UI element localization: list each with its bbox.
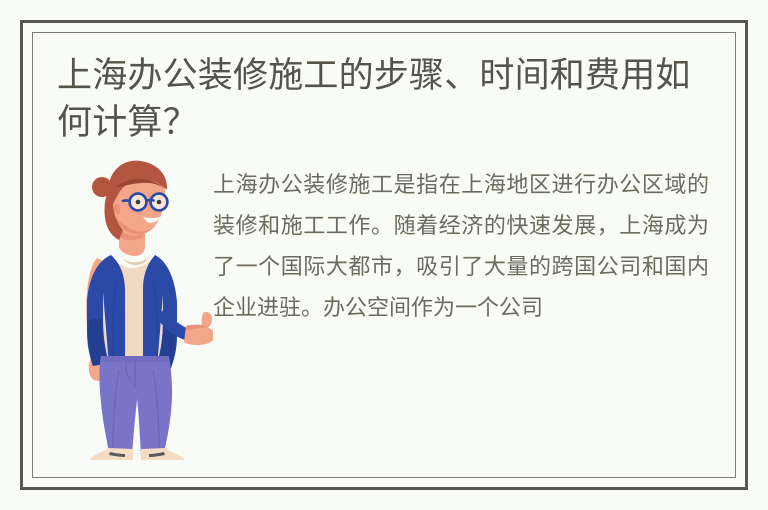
card-inner-frame: 上海办公装修施工的步骤、时间和费用如何计算？	[32, 32, 736, 478]
card-content: 上海办公装修施工的步骤、时间和费用如何计算？	[33, 33, 735, 477]
page-title: 上海办公装修施工的步骤、时间和费用如何计算？	[55, 53, 715, 146]
card-outer-frame: 上海办公装修施工的步骤、时间和费用如何计算？	[20, 20, 748, 490]
article-card-page: 上海办公装修施工的步骤、时间和费用如何计算？	[0, 0, 768, 510]
article-body: 上海办公装修施工是指在上海地区进行办公区域的装修和施工工作。随着经济的快速发展，…	[55, 162, 715, 460]
article-paragraph: 上海办公装修施工是指在上海地区进行办公区域的装修和施工工作。随着经济的快速发展，…	[213, 162, 715, 329]
person-illustration	[53, 160, 213, 460]
